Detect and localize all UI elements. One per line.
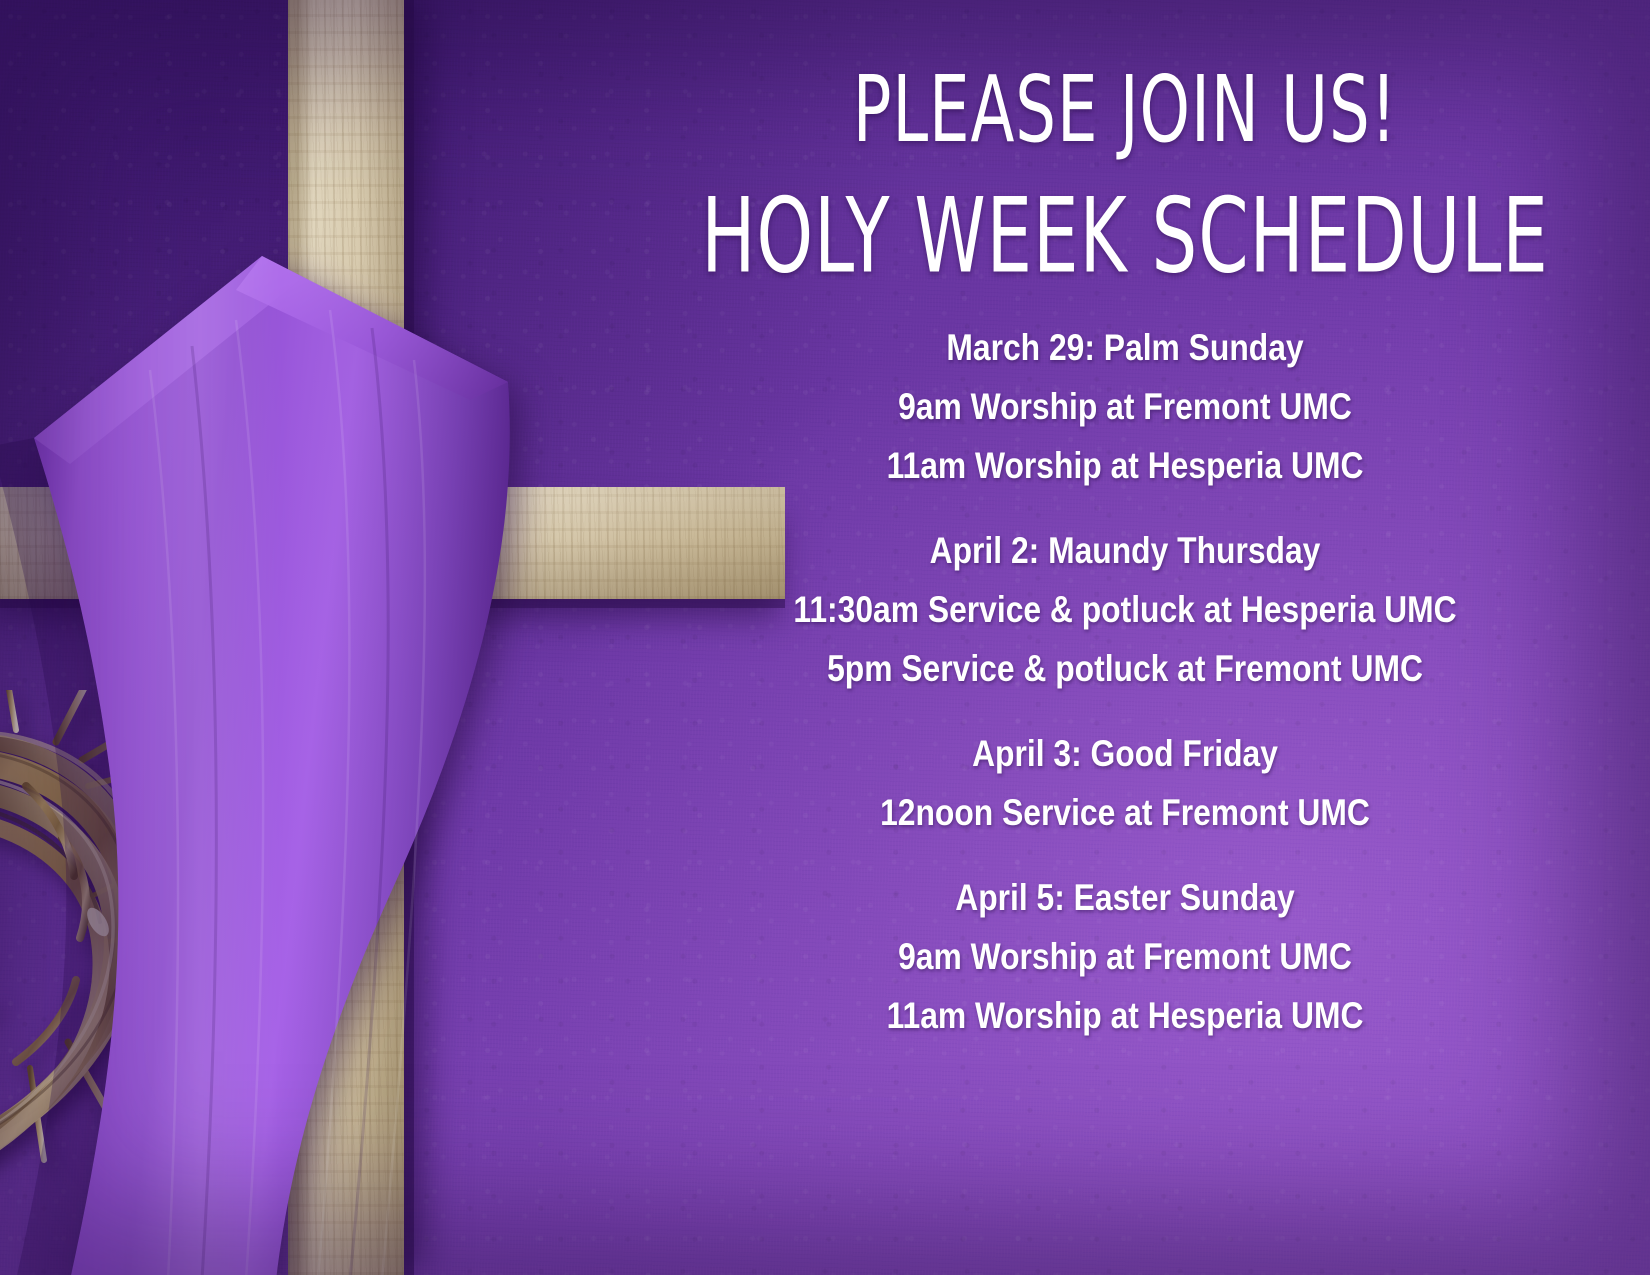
- event-item: 5pm Service & potluck at Fremont UMC: [674, 639, 1577, 698]
- event-item: 12noon Service at Fremont UMC: [674, 783, 1577, 842]
- event-item: 11am Worship at Hesperia UMC: [674, 436, 1577, 495]
- schedule-event: March 29: Palm Sunday 9am Worship at Fre…: [600, 318, 1650, 495]
- schedule-event: April 3: Good Friday 12noon Service at F…: [600, 724, 1650, 842]
- headline-line-2: HOLY WEEK SCHEDULE: [663, 186, 1587, 289]
- crown-of-thorns: [0, 690, 300, 1170]
- event-item: 11:30am Service & potluck at Hesperia UM…: [674, 580, 1577, 639]
- cross-horizontal-beam-left: [0, 487, 295, 599]
- event-title: March 29: Palm Sunday: [674, 318, 1577, 377]
- schedule-event: April 5: Easter Sunday 9am Worship at Fr…: [600, 868, 1650, 1045]
- event-item: 9am Worship at Fremont UMC: [674, 377, 1577, 436]
- event-item: 9am Worship at Fremont UMC: [674, 927, 1577, 986]
- event-title: April 3: Good Friday: [674, 724, 1577, 783]
- event-title: April 5: Easter Sunday: [674, 868, 1577, 927]
- cross-vertical-beam: [288, 0, 404, 1275]
- text-column: PLEASE JOIN US! HOLY WEEK SCHEDULE March…: [600, 0, 1650, 1275]
- event-item: 11am Worship at Hesperia UMC: [674, 986, 1577, 1045]
- schedule-list: March 29: Palm Sunday 9am Worship at Fre…: [600, 318, 1650, 1045]
- holy-week-poster: PLEASE JOIN US! HOLY WEEK SCHEDULE March…: [0, 0, 1650, 1275]
- wood-shading: [288, 0, 404, 1275]
- wood-shading: [0, 487, 295, 599]
- headline-line-1: PLEASE JOIN US!: [663, 64, 1587, 156]
- event-title: April 2: Maundy Thursday: [674, 521, 1577, 580]
- schedule-event: April 2: Maundy Thursday 11:30am Service…: [600, 521, 1650, 698]
